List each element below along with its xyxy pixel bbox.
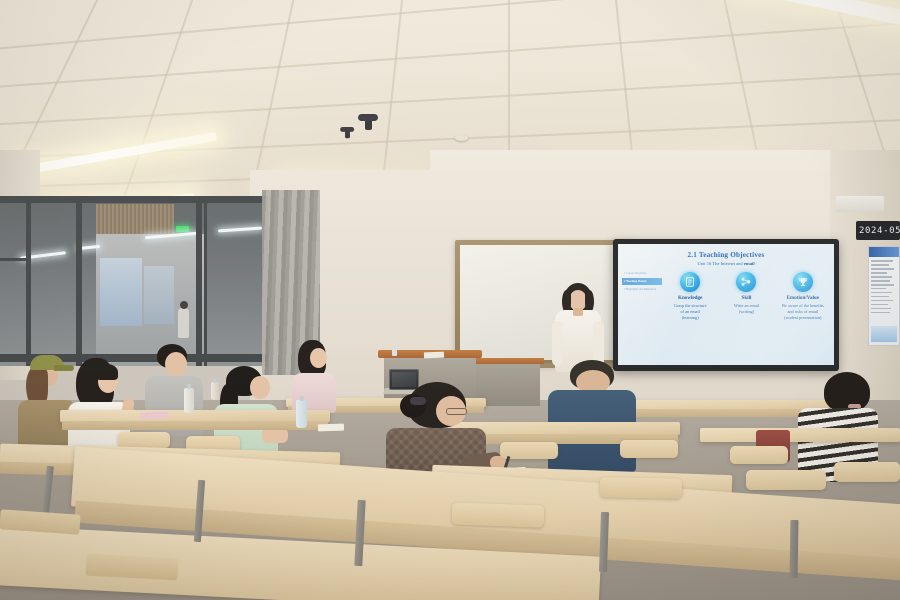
desk-leg — [789, 520, 798, 578]
air-conditioner — [836, 196, 884, 212]
pillar-knowledge: Knowledge Grasp the structure of an emai… — [662, 272, 718, 361]
chair-back — [118, 432, 170, 448]
water-bottle — [184, 388, 194, 413]
notebook-paper — [318, 424, 344, 432]
student-mint-arm — [262, 428, 288, 443]
chair-back — [746, 470, 826, 490]
water-bottle — [296, 400, 307, 428]
digital-date-display: 2024-05 — [856, 221, 900, 240]
network-icon — [736, 272, 756, 292]
pillar-emotion-value: Emotion/Value Be aware of the benefits a… — [775, 272, 831, 361]
document-icon — [680, 272, 700, 292]
pillar-skill: Skill Write an email (writing) — [719, 272, 775, 361]
slide-title: 2.1 Teaching Objectives — [618, 251, 834, 259]
ceiling-camera — [365, 118, 372, 130]
student-white-hair-front — [96, 364, 118, 380]
chair-back — [620, 440, 678, 458]
glass-partition — [0, 196, 268, 366]
slide-pillars: Knowledge Grasp the structure of an emai… — [662, 272, 831, 361]
hair-clip — [410, 397, 426, 405]
corridor-person — [178, 308, 189, 338]
smoke-detector — [455, 135, 468, 141]
classroom-photo: 2.1 Teaching Objectives Unit 16 The Inte… — [0, 0, 900, 600]
slide-nav-item-3[interactable]: 3 Highlights and Reflection — [622, 286, 662, 293]
pillar-title: Knowledge — [662, 295, 718, 301]
exit-sign — [176, 226, 189, 232]
slide: 2.1 Teaching Objectives Unit 16 The Inte… — [618, 244, 834, 365]
desk-row-mid-far-right — [700, 428, 900, 442]
presenter-neck — [573, 308, 583, 316]
water-bottle — [211, 382, 219, 400]
pillar-line: (writing) — [719, 309, 775, 315]
student-mint-head — [250, 376, 270, 399]
chair-back — [834, 462, 900, 482]
pillar-line: (learning) — [662, 315, 718, 321]
chair-back — [600, 477, 682, 498]
chair-seat — [85, 554, 178, 581]
slide-nav-item-2[interactable]: 2 Teaching Design — [622, 278, 662, 285]
chair-back — [452, 502, 545, 527]
cup — [392, 349, 397, 356]
slide-subtitle: Unit 16 The Internet and email — [618, 261, 834, 266]
chair-back — [730, 446, 788, 464]
notebook-paper — [140, 412, 168, 420]
student-pink-head — [310, 348, 327, 368]
pillar-title: Skill — [719, 295, 775, 301]
whiteboard — [455, 240, 633, 365]
trophy-icon — [793, 272, 813, 292]
desk-row-mid-front — [62, 421, 328, 430]
corridor-poster — [100, 258, 142, 326]
slide-nav-item-1[interactable]: 1 Course Overview — [622, 270, 662, 277]
corridor-light — [218, 226, 262, 232]
slide-subtitle-bold: email — [744, 261, 755, 266]
student-gray-head — [165, 352, 187, 376]
presentation-screen[interactable]: 2.1 Teaching Objectives Unit 16 The Inte… — [613, 239, 839, 371]
ceiling-light — [731, 0, 900, 37]
corridor-poster — [144, 266, 174, 324]
side-cabinet-top — [466, 358, 544, 364]
pillar-title: Emotion/Value — [775, 295, 831, 301]
glasses — [446, 408, 467, 415]
slide-nav: 1 Course Overview 2 Teaching Design 3 Hi… — [622, 270, 662, 294]
paper-sheet — [424, 352, 444, 359]
ceiling-camera — [345, 130, 350, 138]
wall-poster — [868, 246, 900, 346]
pillar-line: (student presentation) — [775, 315, 831, 321]
slide-subtitle-prefix: Unit 16 The Internet and — [697, 261, 743, 266]
digital-date-text: 2024-05 — [859, 226, 900, 236]
